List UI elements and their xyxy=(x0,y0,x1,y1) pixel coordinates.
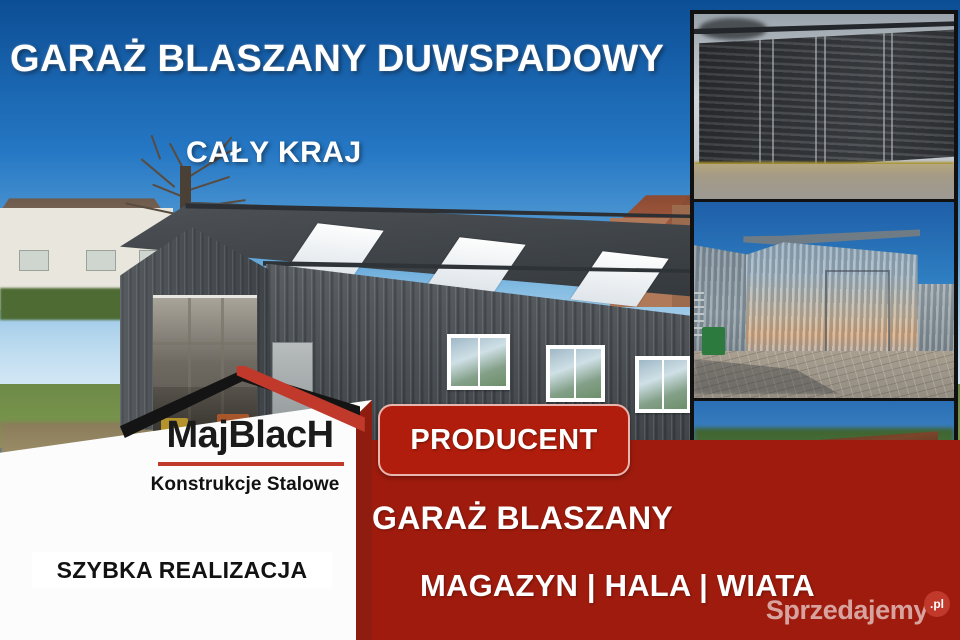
page-title: GARAŻ BLASZANY DUWSPADOWY xyxy=(10,38,690,81)
brand-wordmark: MajBlacH xyxy=(150,414,350,457)
garage-window xyxy=(546,345,606,401)
product-line-text: GARAŻ BLASZANY xyxy=(372,500,702,537)
garage-window xyxy=(447,334,509,390)
fast-delivery-label: SZYBKA REALIZACJA xyxy=(57,557,308,584)
brand-tagline: Konstrukcje Stalowe xyxy=(130,474,360,496)
watermark-tld-badge: .pl xyxy=(924,591,950,617)
producent-badge: PRODUCENT xyxy=(378,404,630,476)
site-watermark: Sprzedajemy .pl xyxy=(766,595,950,626)
fast-delivery-banner: SZYBKA REALIZACJA xyxy=(32,552,332,588)
gallery-photo-dark-hall xyxy=(694,14,954,199)
watermark-name: Sprzedajemy xyxy=(766,595,928,626)
gallery-photo-silver-hall xyxy=(694,202,954,398)
brand-underline xyxy=(158,462,344,466)
garage-window xyxy=(635,356,692,412)
house-window xyxy=(19,250,49,272)
advertisement-banner: GARAŻ BLASZANY DUWSPADOWY CAŁY KRAJ xyxy=(0,0,960,640)
producent-label: PRODUCENT xyxy=(410,424,597,457)
coverage-subtitle: CAŁY KRAJ xyxy=(186,136,362,170)
